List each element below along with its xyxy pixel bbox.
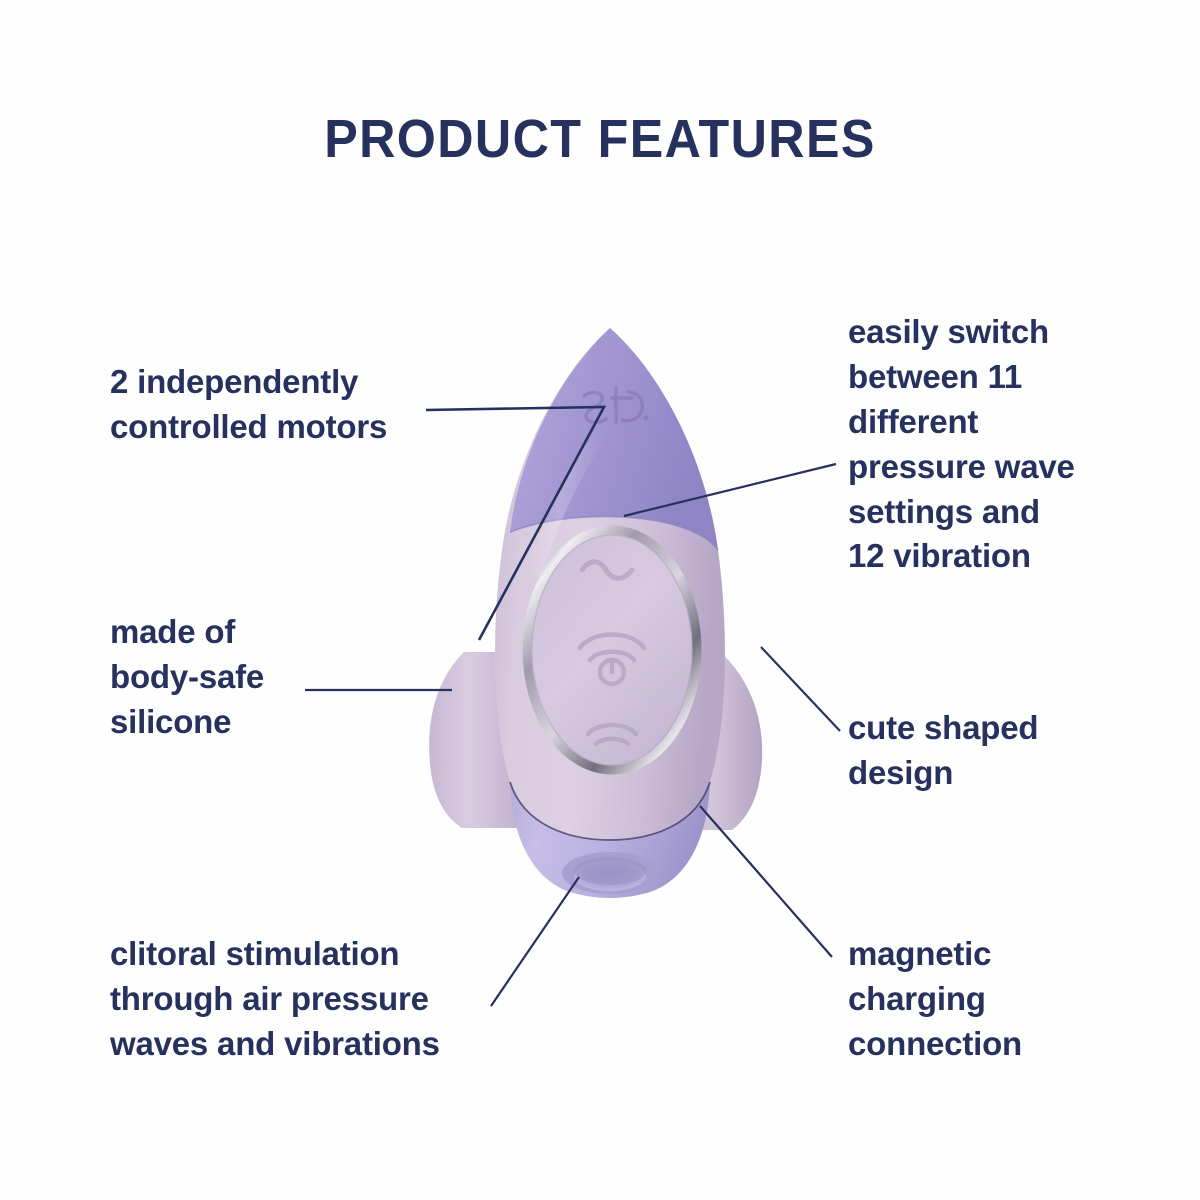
callout-silicone: made of body-safe silicone: [110, 610, 330, 745]
callout-charging: magnetic charging connection: [848, 932, 1098, 1067]
product-features-page: PRODUCT FEATURES: [0, 0, 1200, 1200]
callout-design: cute shaped design: [848, 706, 1098, 796]
product-illustration: [400, 320, 820, 900]
callout-motors: 2 independently controlled motors: [110, 360, 440, 450]
callout-settings: easily switch between 11 different press…: [848, 310, 1108, 579]
air-pressure-nozzle-shadow: [574, 857, 646, 885]
page-title: PRODUCT FEATURES: [42, 108, 1158, 170]
callout-stimulation: clitoral stimulation through air pressur…: [110, 932, 510, 1067]
